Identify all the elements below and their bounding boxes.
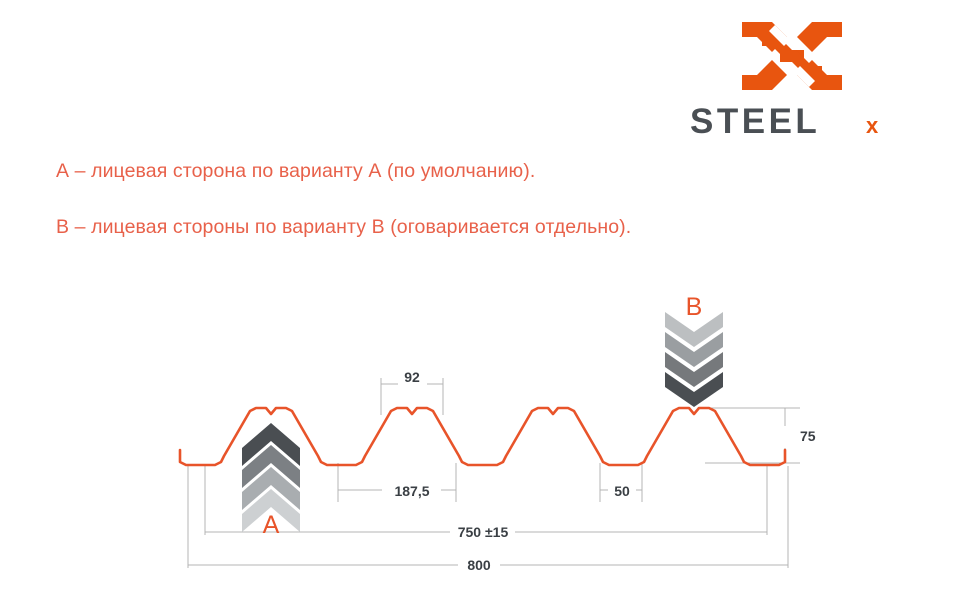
marker-a-label: A [263, 511, 280, 539]
chevron-down-stack-icon [665, 312, 723, 407]
dimension-label-rib-width: 92 [404, 369, 420, 385]
note-variant-a: А – лицевая сторона по варианту А (по ум… [56, 160, 535, 183]
note-variant-b: В – лицевая стороны по варианту В (огова… [56, 216, 631, 239]
dimension-label-pitch: 187,5 [394, 483, 429, 499]
dimension-label-height: 75 [800, 428, 816, 444]
profile-technical-drawing: A B 92 187,5 50 750 ±15 800 75 [0, 280, 970, 590]
dimension-label-working-width: 750 ±15 [458, 524, 509, 540]
brand-logo: STEEL x [690, 18, 905, 143]
marker-b-label: B [686, 293, 703, 321]
steelx-x-mark-icon [742, 18, 842, 94]
logo-wordmark: STEEL x [690, 102, 905, 142]
logo-superscript-text: x [866, 113, 879, 138]
dimension-label-valley-width: 50 [614, 483, 630, 499]
dimension-label-total-width: 800 [467, 557, 491, 573]
logo-wordmark-text: STEEL [690, 102, 820, 141]
